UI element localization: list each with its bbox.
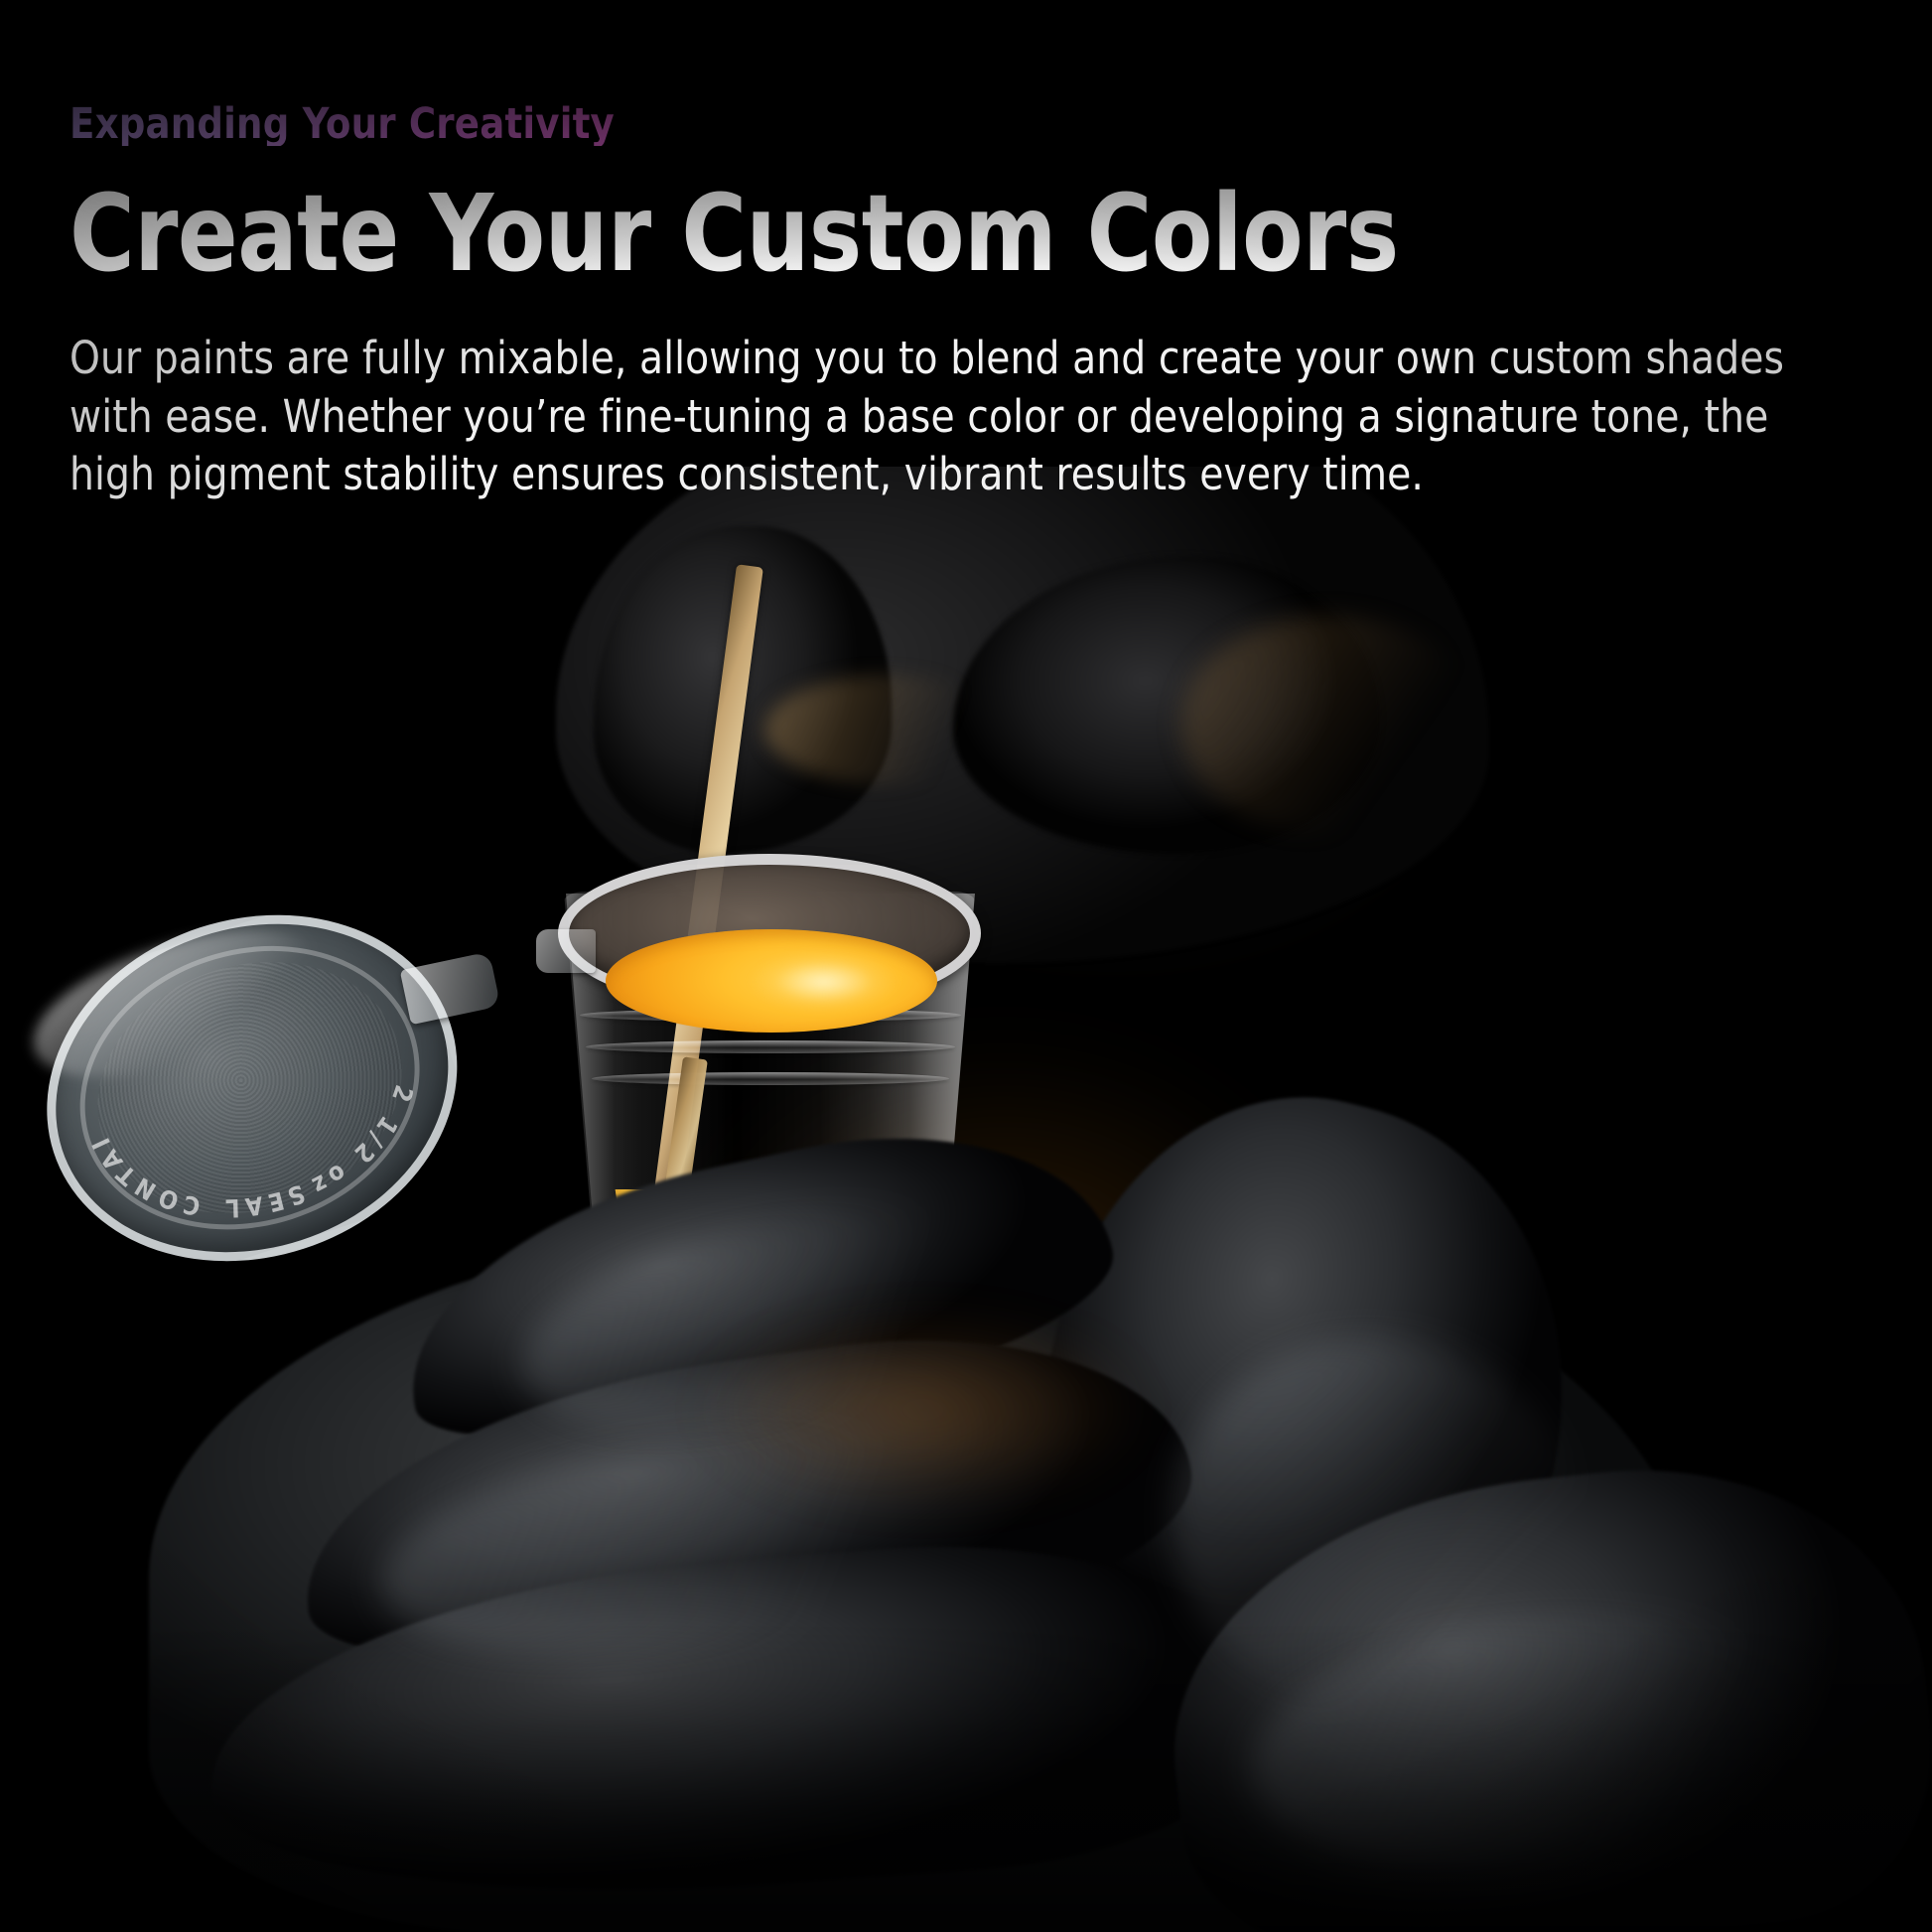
hero-description-line: with ease. Whether you’re fine-tuning a …: [69, 388, 1803, 447]
hero-description: Our paints are fully mixable, allowing y…: [69, 330, 1803, 504]
cup-rib-3: [592, 1072, 949, 1085]
hero-description-line: Our paints are fully mixable, allowing y…: [69, 330, 1803, 388]
cup-hinge-tab: [536, 929, 596, 973]
cup-rib-2: [586, 1040, 955, 1053]
page-title: Create Your Custom Colors: [69, 182, 1759, 288]
container-lid: 2 1/2 oz SEAL CONTAINER: [2, 863, 515, 1350]
upper-hand-rim-light: [1181, 616, 1479, 834]
eyebrow-label: Expanding Your Creativity: [69, 103, 615, 146]
hero-banner: 2 1/2 oz SEAL CONTAINER: [0, 0, 1932, 1932]
product-photo: 2 1/2 oz SEAL CONTAINER: [0, 467, 1932, 1932]
hero-description-line: high pigment stability ensures consisten…: [69, 446, 1803, 504]
hero-text-block: Expanding Your Creativity Create Your Cu…: [69, 103, 1886, 504]
paint-swirl-highlight: [750, 951, 898, 1013]
lid-hinge-tab: [400, 951, 501, 1025]
upper-hand-highlight: [764, 675, 1013, 784]
paint-light-spill: [616, 1281, 1231, 1539]
